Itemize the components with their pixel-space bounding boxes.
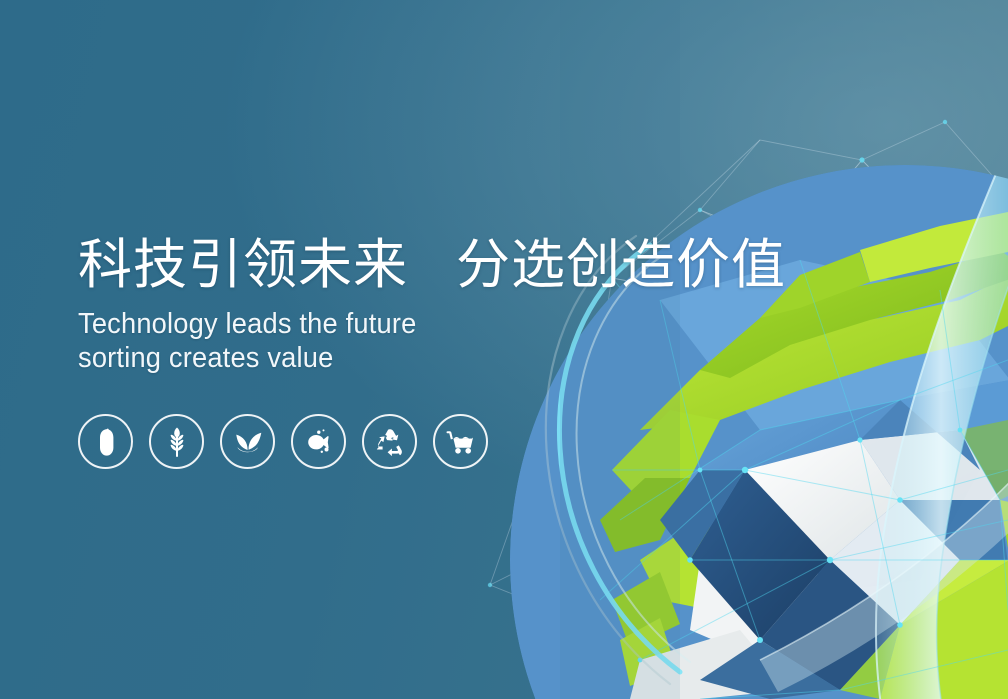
hero-copy: 科技引领未来 分选创造价值 Technology leads the futur…	[78, 236, 786, 376]
industry-icon-row	[78, 414, 488, 469]
seed-grain-icon	[94, 427, 118, 457]
icon-badge-wheat[interactable]	[149, 414, 204, 469]
fish-icon	[304, 429, 334, 455]
icon-badge-fish[interactable]	[291, 414, 346, 469]
subtitle-line-1: Technology leads the future	[78, 308, 416, 340]
icon-badge-recycle[interactable]	[362, 414, 417, 469]
wheat-icon	[163, 426, 191, 458]
page-subtitle: Technology leads the future sorting crea…	[78, 308, 744, 375]
icon-badge-leaf[interactable]	[220, 414, 275, 469]
icon-badge-mining-cart[interactable]	[433, 414, 488, 469]
recycle-icon	[376, 428, 404, 456]
page-title: 科技引领未来 分选创造价值	[78, 236, 786, 294]
icon-badge-seed-grain[interactable]	[78, 414, 133, 469]
hero-banner: 科技引领未来 分选创造价值 Technology leads the futur…	[0, 0, 1008, 699]
leaf-icon	[233, 430, 263, 454]
mining-cart-icon	[446, 429, 476, 455]
subtitle-line-2: sorting creates value	[78, 342, 744, 376]
